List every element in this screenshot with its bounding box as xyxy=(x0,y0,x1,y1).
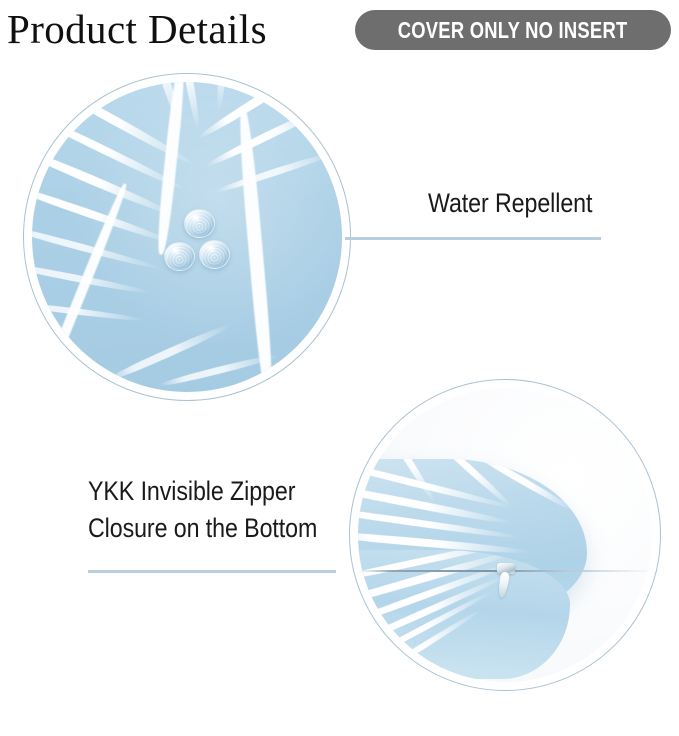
status-badge: COVER ONLY NO INSERT xyxy=(355,10,671,50)
status-badge-label: COVER ONLY NO INSERT xyxy=(398,19,628,42)
water-droplet xyxy=(164,242,195,271)
page-title: Product Details xyxy=(7,5,267,53)
water-droplet xyxy=(184,209,215,238)
feature-label-line-1: YKK Invisible Zipper xyxy=(88,473,317,510)
infographic-canvas: Product Details COVER ONLY NO INSERT xyxy=(0,0,679,736)
leader-line-ykk-zipper xyxy=(88,570,336,573)
feature-image-water-repellent xyxy=(32,82,342,392)
feature-image-ykk-zipper xyxy=(358,388,652,682)
water-droplet xyxy=(199,240,230,269)
pillow-photo xyxy=(358,388,652,682)
feature-label-line-2: Closure on the Bottom xyxy=(88,510,317,547)
feature-label-water-repellent: Water Repellent xyxy=(428,185,592,222)
leader-line-water-repellent xyxy=(345,237,601,240)
feature-label-ykk-zipper: YKK Invisible Zipper Closure on the Bott… xyxy=(88,473,317,547)
fabric-texture xyxy=(32,82,342,392)
